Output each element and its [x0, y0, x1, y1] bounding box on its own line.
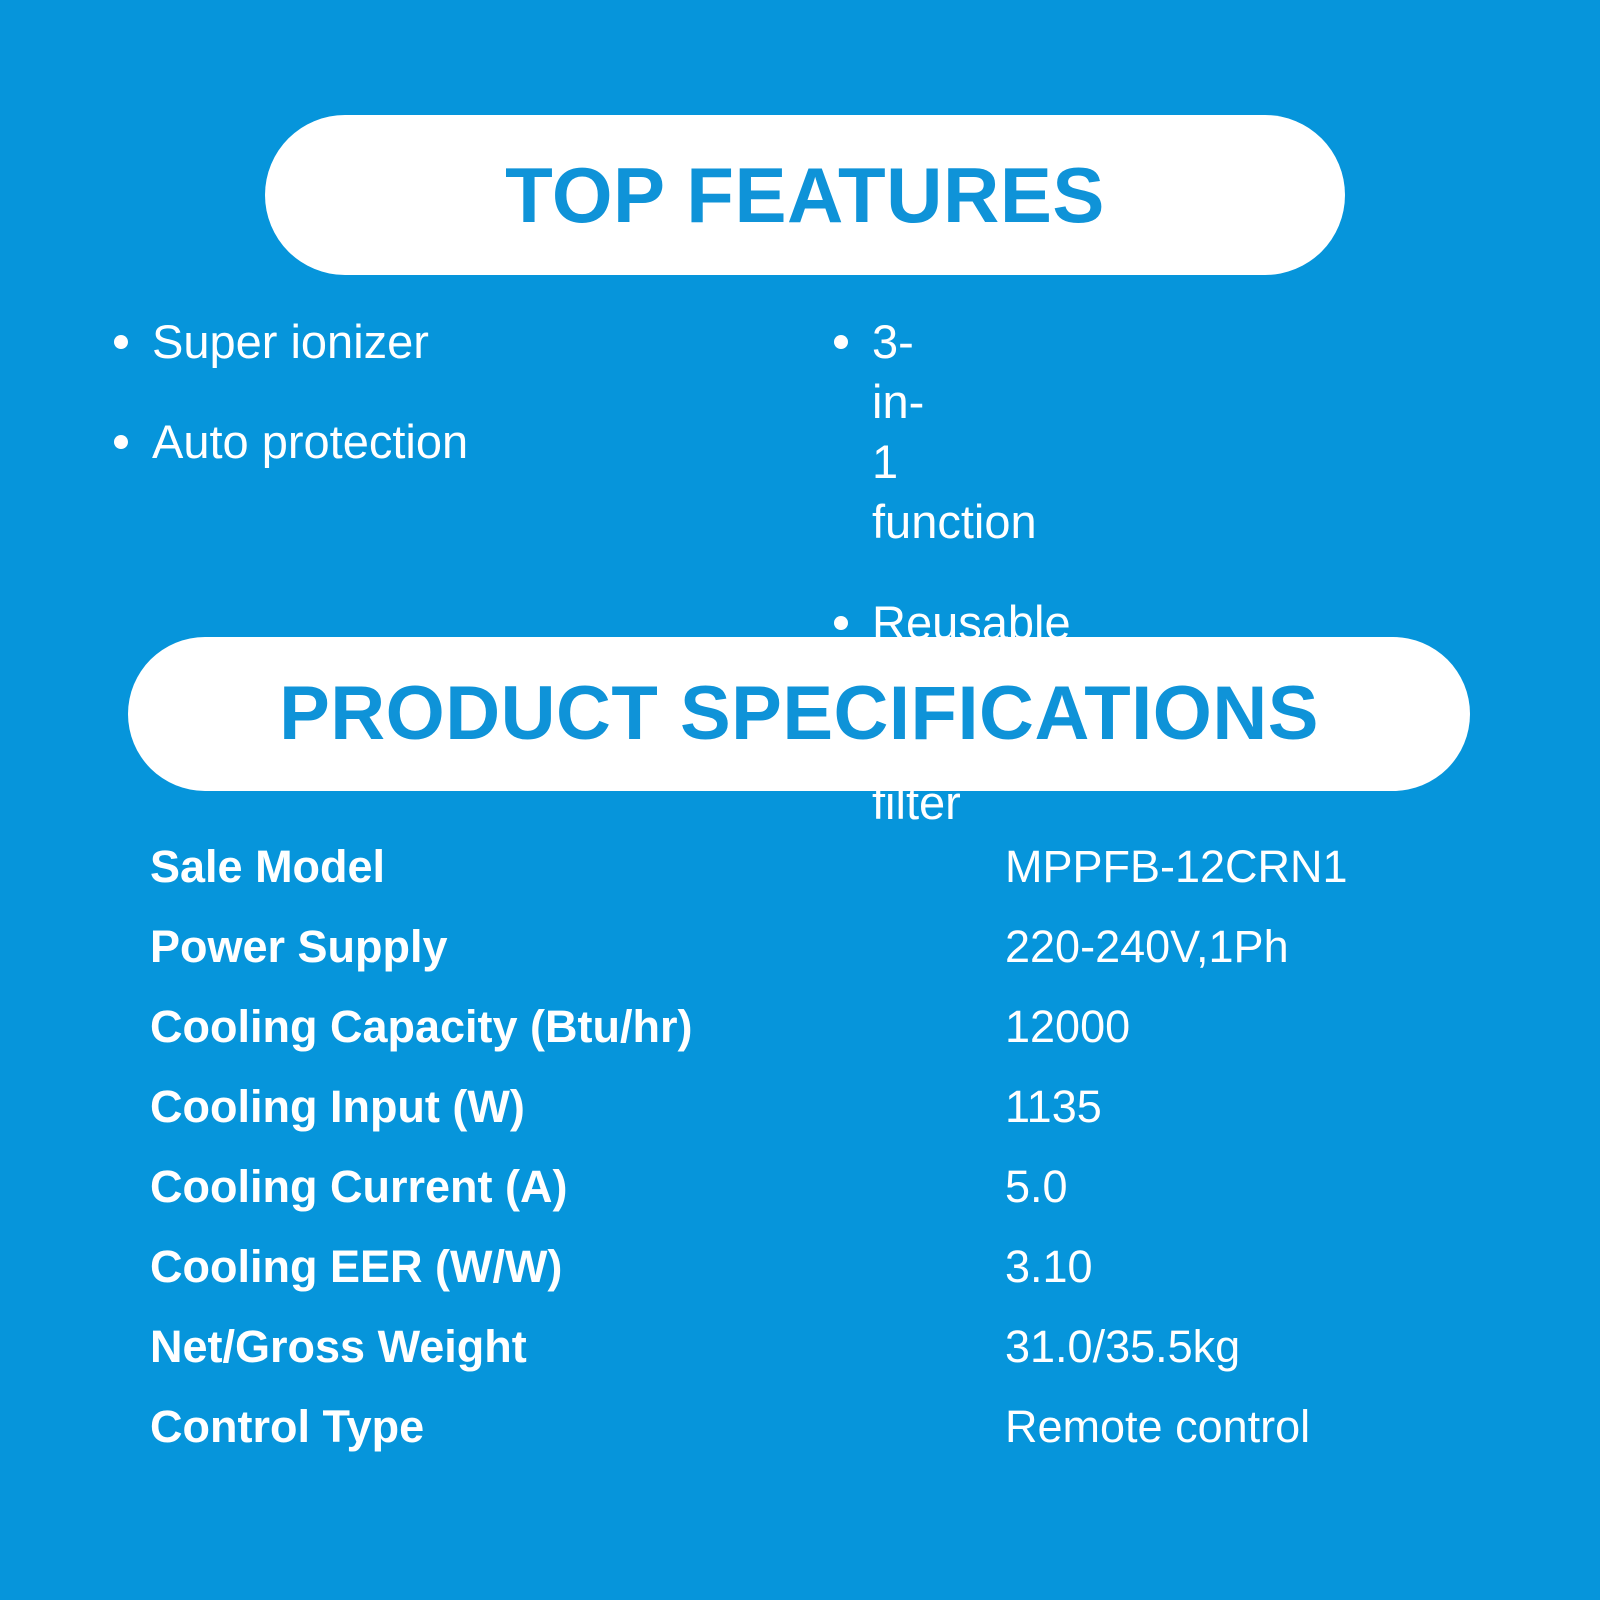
spec-value: 220-240V,1Ph	[1005, 916, 1289, 978]
table-row: Cooling Capacity (Btu/hr) 12000	[150, 996, 1550, 1076]
bullet-icon	[834, 335, 848, 349]
table-row: Cooling Current (A) 5.0	[150, 1156, 1550, 1236]
spec-value: MPPFB-12CRN1	[1005, 836, 1348, 898]
spec-label: Sale Model	[150, 836, 385, 898]
spec-label: Net/Gross Weight	[150, 1316, 527, 1378]
table-row: Sale Model MPPFB-12CRN1	[150, 836, 1550, 916]
bullet-icon	[114, 435, 128, 449]
top-features-banner: TOP FEATURES	[265, 115, 1345, 275]
list-item: 3-in-1 function	[828, 312, 872, 553]
product-specifications-banner: PRODUCT SPECIFICATIONS	[128, 637, 1470, 791]
spec-label: Cooling Input (W)	[150, 1076, 525, 1138]
product-info-page: TOP FEATURES Super ionizer Auto protecti…	[0, 0, 1600, 1600]
feature-label: Auto protection	[152, 415, 468, 468]
table-row: Net/Gross Weight 31.0/35.5kg	[150, 1316, 1550, 1396]
spec-value: 1135	[1005, 1076, 1102, 1138]
spec-value: Remote control	[1005, 1396, 1310, 1458]
bullet-icon	[834, 616, 848, 630]
spec-label: Cooling Capacity (Btu/hr)	[150, 996, 692, 1058]
feature-label: 3-in-1 function	[872, 315, 1037, 548]
spec-value: 5.0	[1005, 1156, 1068, 1218]
table-row: Control Type Remote control	[150, 1396, 1550, 1476]
feature-label: Super ionizer	[152, 315, 429, 368]
spec-label: Control Type	[150, 1396, 424, 1458]
spec-label: Power Supply	[150, 916, 448, 978]
spec-value: 3.10	[1005, 1236, 1093, 1298]
spec-value: 31.0/35.5kg	[1005, 1316, 1240, 1378]
spec-label: Cooling Current (A)	[150, 1156, 567, 1218]
table-row: Power Supply 220-240V,1Ph	[150, 916, 1550, 996]
specifications-table: Sale Model MPPFB-12CRN1 Power Supply 220…	[150, 836, 1550, 1476]
spec-label: Cooling EER (W/W)	[150, 1236, 562, 1298]
list-item: Auto protection	[108, 412, 582, 472]
product-specifications-title: PRODUCT SPECIFICATIONS	[279, 676, 1319, 752]
top-features-title: TOP FEATURES	[505, 156, 1105, 234]
table-row: Cooling EER (W/W) 3.10	[150, 1236, 1550, 1316]
table-row: Cooling Input (W) 1135	[150, 1076, 1550, 1156]
bullet-icon	[114, 335, 128, 349]
spec-value: 12000	[1005, 996, 1130, 1058]
list-item: Super ionizer	[108, 312, 582, 372]
